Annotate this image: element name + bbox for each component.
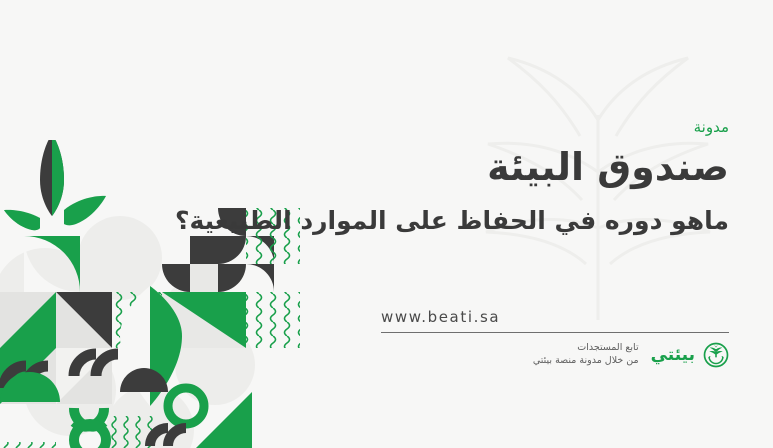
- brand-name: بيئتي: [651, 345, 695, 365]
- eyebrow-label: مدونة: [169, 118, 729, 136]
- footer-tagline: تابع المستجدات من خلال مدونة منصة بيئتي: [533, 342, 639, 368]
- footer-divider: [381, 332, 729, 333]
- blog-promo-banner: مدونة صندوق البيئة ماهو دوره في الحفاظ ع…: [0, 0, 773, 448]
- brand-row: بيئتي تابع المستجدات من خلال مدونة منصة …: [381, 342, 729, 368]
- banner-text-block: مدونة صندوق البيئة ماهو دوره في الحفاظ ع…: [169, 118, 729, 237]
- banner-footer: www.beati.sa: [381, 308, 729, 368]
- site-url[interactable]: www.beati.sa: [381, 308, 729, 332]
- tagline-line-1: تابع المستجدات: [533, 342, 639, 355]
- palm-tree-swords-emblem-icon: [703, 342, 729, 368]
- page-subtitle: ماهو دوره في الحفاظ على الموارد الطبيعية…: [169, 204, 729, 238]
- tagline-line-2: من خلال مدونة منصة بيئتي: [533, 355, 639, 368]
- page-title: صندوق البيئة: [169, 144, 729, 192]
